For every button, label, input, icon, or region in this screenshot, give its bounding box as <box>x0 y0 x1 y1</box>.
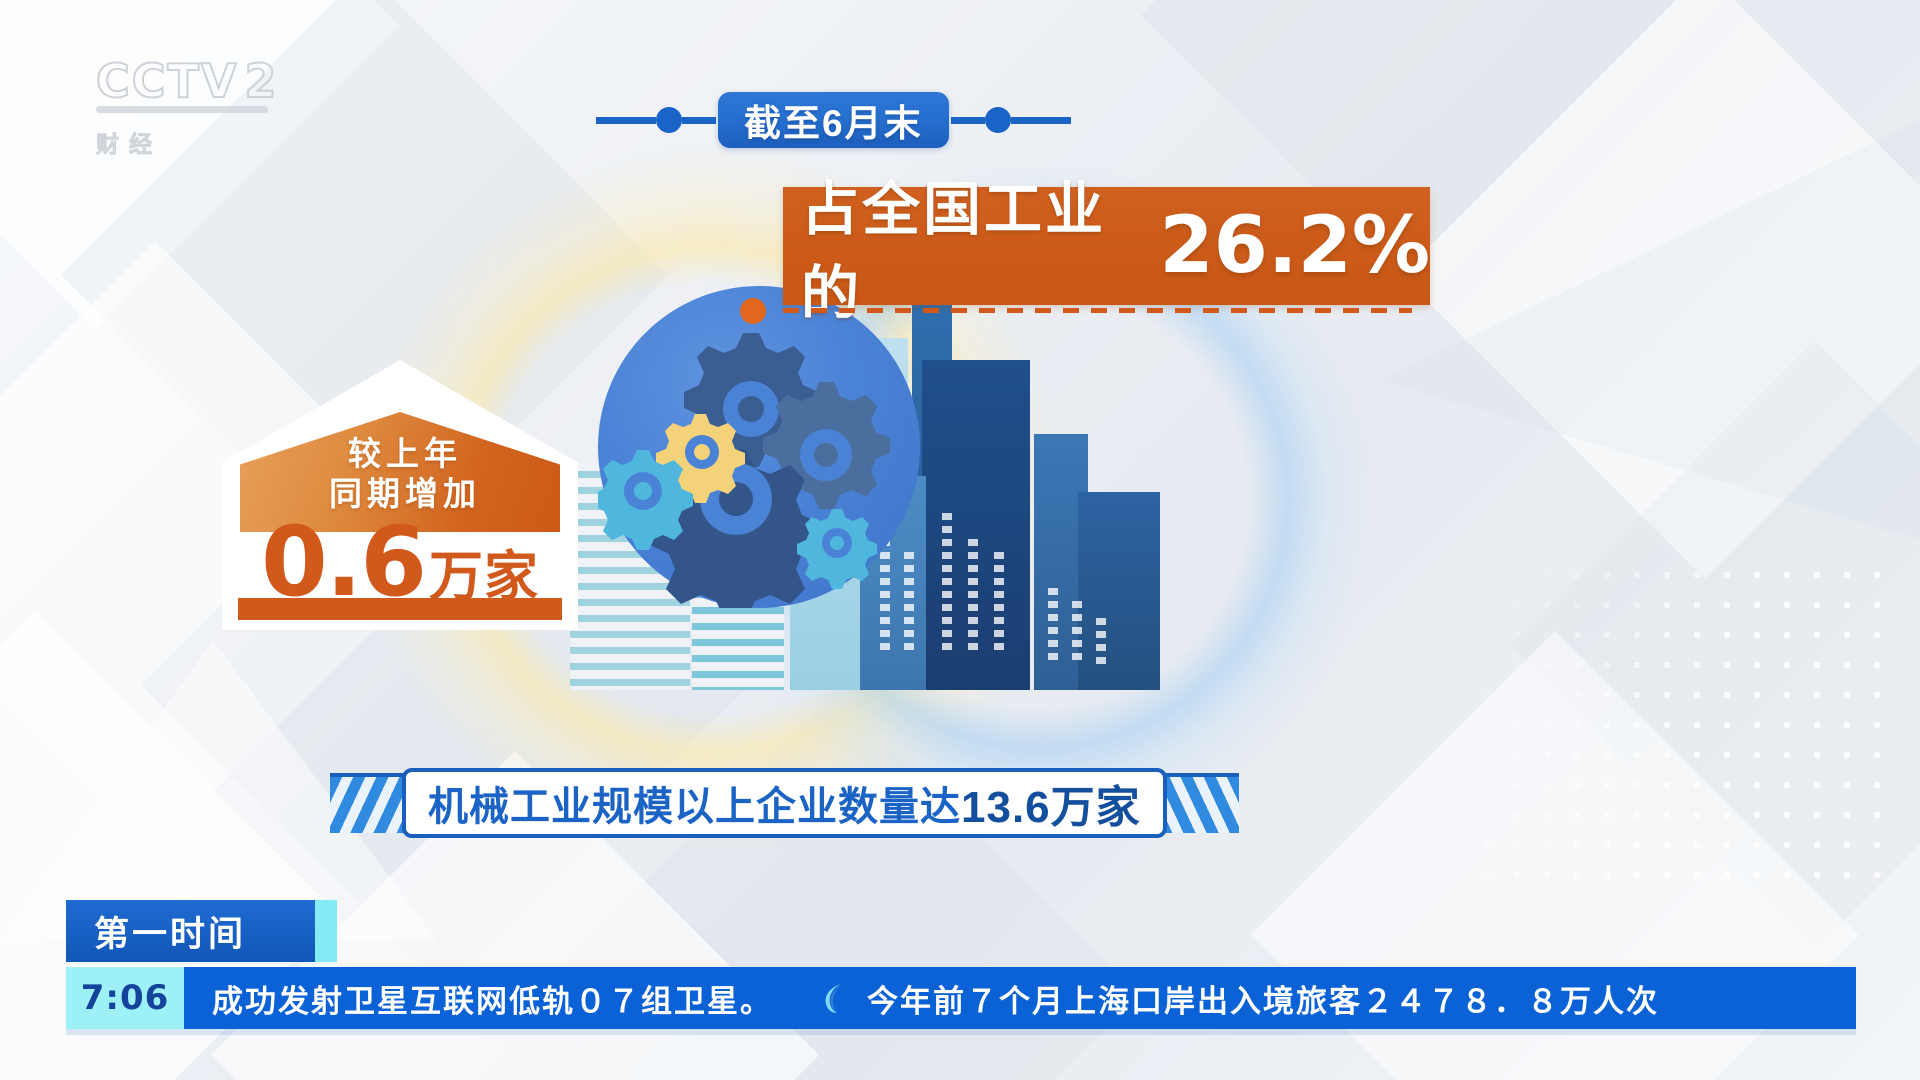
banner-line-right-inner <box>951 117 985 124</box>
ticker-text-2: 今年前７个月上海口岸出入境旅客２４７８．８万人次 <box>867 976 1659 1021</box>
banner-line-right <box>1011 117 1071 124</box>
program-title: 第一时间 <box>94 906 246 957</box>
ticker-text-1: 成功发射卫星互联网低轨０７组卫星。 <box>212 976 773 1021</box>
date-pill: 截至6月末 <box>718 92 949 148</box>
dot-pattern <box>1472 560 1892 880</box>
ticker-shadow <box>66 1029 1856 1035</box>
orange-dashed-rule <box>783 308 1412 313</box>
ticker-item-1: 成功发射卫星互联网低轨０７组卫星。 <box>212 976 773 1021</box>
yoy-value-group: 0.6万家 <box>238 506 562 618</box>
yoy-unit: 万家 <box>429 547 539 607</box>
crescent-moon-icon <box>817 981 851 1015</box>
yoy-number: 0.6 <box>261 506 425 618</box>
broadcast-screen: CCTV2 财经 截至6月末 <box>0 0 1920 1080</box>
hatch-decoration-left <box>330 773 408 833</box>
program-title-bar: 第一时间 <box>66 900 337 962</box>
cctv-logo: CCTV2 财经 <box>96 58 276 162</box>
headline-value: 13.6万家 <box>961 771 1141 835</box>
logo-number: 2 <box>245 54 279 108</box>
ticker-item-2: 今年前７个月上海口岸出入境旅客２４７８．８万人次 <box>867 976 1659 1021</box>
ticker-time: 7:06 <box>81 978 170 1018</box>
headline-lead: 机械工业规模以上企业数量达 <box>428 774 961 832</box>
national-share-value: 26.2% <box>1159 201 1430 291</box>
gears-icon <box>598 286 920 608</box>
program-accent-bar <box>315 900 337 962</box>
yoy-line-1: 较上年 <box>260 434 550 474</box>
ticker-time-box: 7:06 <box>66 967 184 1029</box>
national-share-banner: 占全国工业的 26.2% <box>783 187 1430 305</box>
gears-svg <box>598 286 920 608</box>
banner-dot-right <box>985 107 1011 133</box>
yoy-roof-label: 较上年 同期增加 <box>260 434 550 515</box>
news-ticker: 7:06 成功发射卫星互联网低轨０７组卫星。 今年前７个月上海口岸出入境旅客２４… <box>66 967 1856 1029</box>
top-date-banner: 截至6月末 <box>596 92 1071 148</box>
date-label: 截至6月末 <box>744 93 923 147</box>
main-headline-banner: 机械工业规模以上企业数量达 13.6万家 <box>330 772 1239 834</box>
banner-dot-left <box>656 107 682 133</box>
hatch-decoration-right <box>1161 773 1239 833</box>
headline-pill: 机械工业规模以上企业数量达 13.6万家 <box>402 768 1167 838</box>
yoy-increase-card: 较上年 同期增加 0.6万家 <box>222 360 578 630</box>
logo-text: CCTV <box>96 54 239 108</box>
banner-line-left <box>596 117 656 124</box>
banner-line-left-inner <box>682 117 716 124</box>
orange-accent-dot <box>740 298 766 324</box>
national-share-label: 占全国工业的 <box>801 162 1153 330</box>
logo-subtitle: 财经 <box>96 125 276 159</box>
